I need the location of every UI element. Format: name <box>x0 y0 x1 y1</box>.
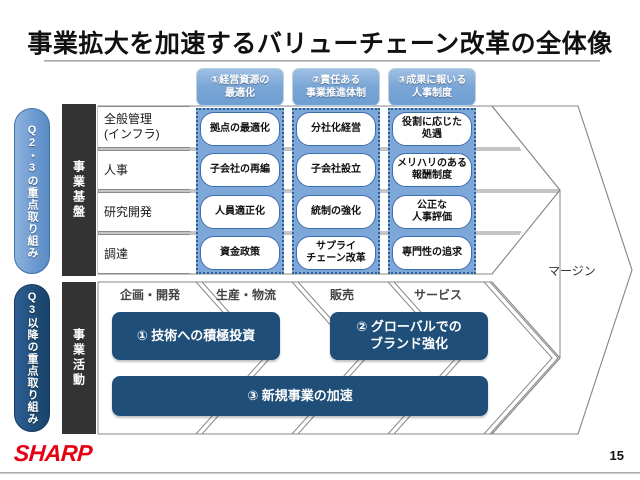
title-divider <box>44 60 600 62</box>
support-row-rnd: 研究開発 <box>98 192 190 232</box>
matrix-cell-r2c0: 人員適正化 <box>200 195 280 229</box>
support-row-hr: 人事 <box>98 150 190 190</box>
page-title: 事業拡大を加速するバリューチェーン改革の全体像 <box>0 24 640 60</box>
page-number: 15 <box>610 448 624 463</box>
matrix-cell-r1c2: メリハリのある報酬制度 <box>392 153 472 187</box>
matrix-cell-r0c1: 分社化経営 <box>296 112 376 146</box>
matrix-cell-r0c2: 役割に応じた処遇 <box>392 112 472 146</box>
matrix-cell-r3c2: 専門性の追求 <box>392 236 472 270</box>
phase-pill-q2-q3: Q2・3の重点取り組み <box>14 108 50 274</box>
matrix-cell-r0c0: 拠点の最適化 <box>200 112 280 146</box>
margin-label: マージン <box>548 262 596 279</box>
initiative-tech-investment: ① 技術への積極投資 <box>112 312 280 360</box>
matrix-cell-r2c1: 統制の強化 <box>296 195 376 229</box>
matrix-cell-r1c1: 子会社設立 <box>296 153 376 187</box>
matrix-cell-r3c0: 資金政策 <box>200 236 280 270</box>
column-header-hr-system: ③成果に報いる人事制度 <box>388 68 476 106</box>
support-row-procurement: 調達 <box>98 234 190 274</box>
column-header-accountable-structure: ②責任ある事業推進体制 <box>292 68 380 106</box>
sharp-logo: SHARP <box>13 440 93 467</box>
initiative-new-business: ③ 新規事業の加速 <box>112 376 488 416</box>
stage-label-sales: 販売 <box>300 284 384 304</box>
stage-label-production-logistics: 生産・物流 <box>200 284 292 304</box>
matrix-cell-r3c1: サプライチェーン改革 <box>296 236 376 270</box>
initiative-global-brand: ② グローバルでのブランド強化 <box>330 312 488 360</box>
stage-label-planning-development: 企画・開発 <box>104 284 196 304</box>
footer-divider <box>0 472 640 474</box>
group-bar-business-activity: 事業活動 <box>62 282 96 434</box>
support-row-general-management: 全般管理(インフラ) <box>98 106 190 148</box>
phase-pill-q3-onward: Q3以降の重点取り組み <box>14 284 50 432</box>
stage-label-service: サービス <box>392 284 484 304</box>
column-header-management-resources: ①経営資源の最適化 <box>196 68 284 106</box>
matrix-cell-r1c0: 子会社の再編 <box>200 153 280 187</box>
group-bar-business-foundation: 事業基盤 <box>62 104 96 276</box>
matrix-cell-r2c2: 公正な人事評価 <box>392 195 472 229</box>
slide-canvas: 事業拡大を加速するバリューチェーン改革の全体像 <box>0 0 640 480</box>
